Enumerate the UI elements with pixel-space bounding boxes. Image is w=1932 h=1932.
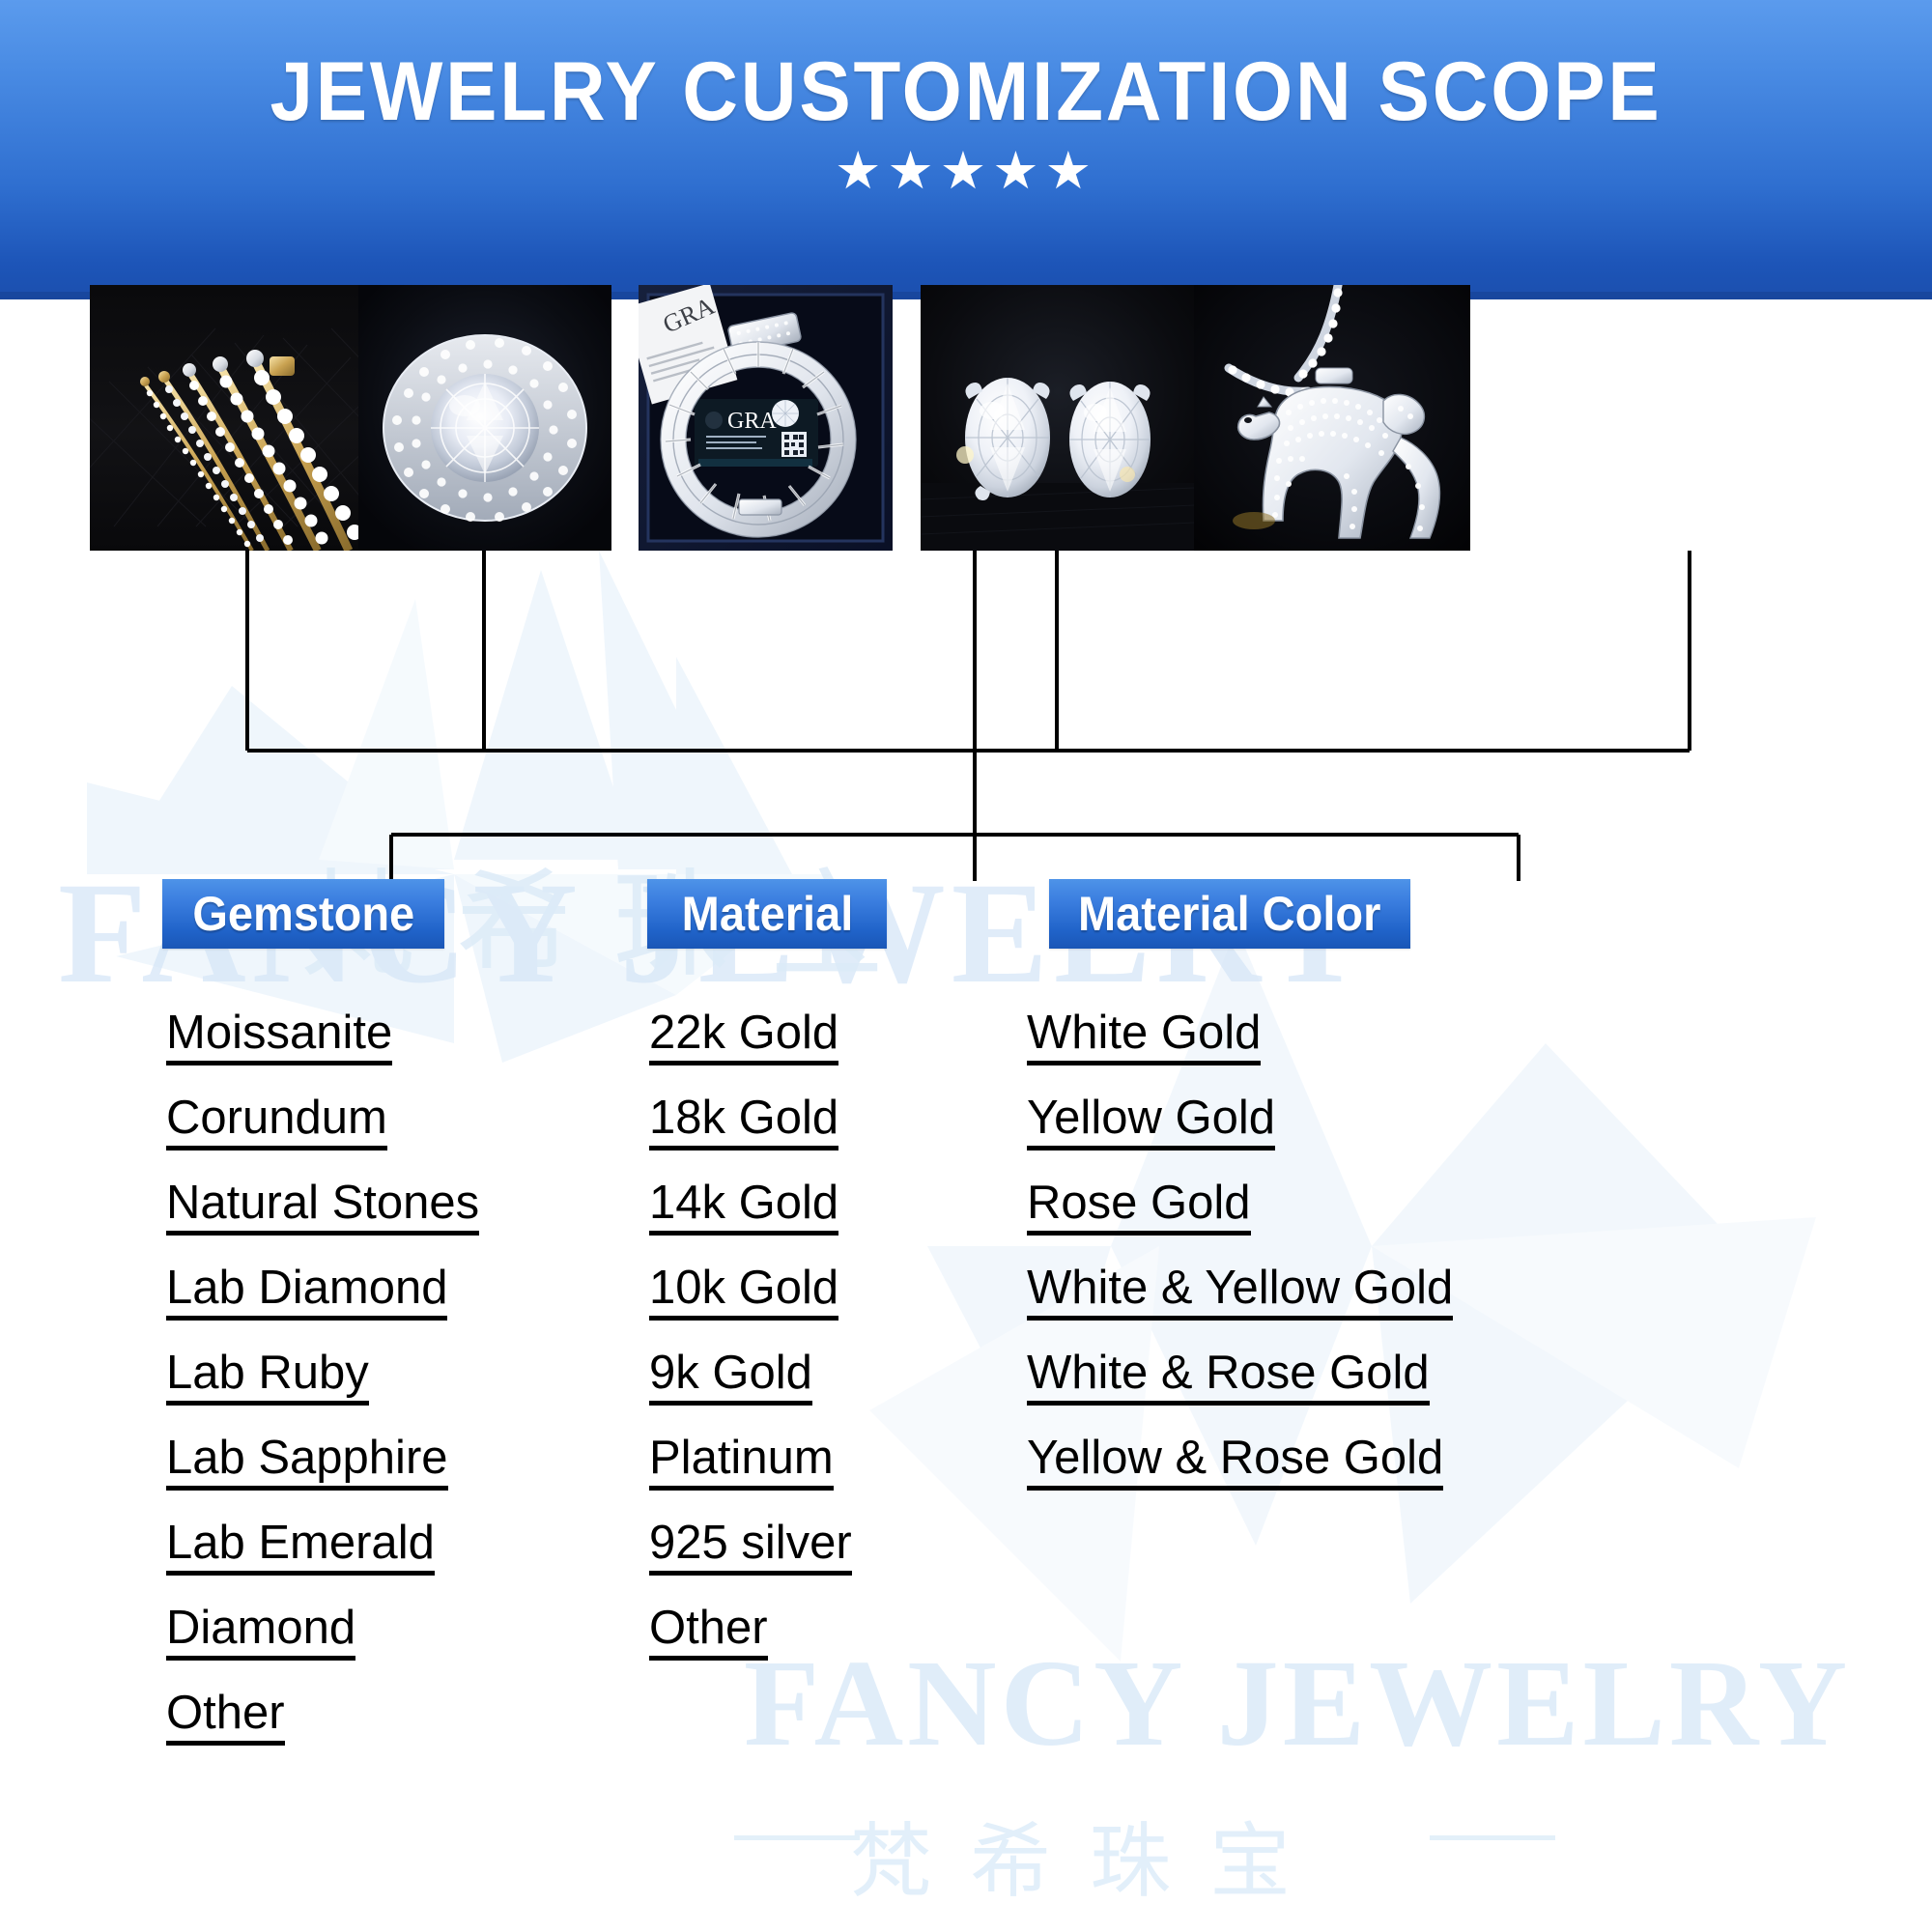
connector-lines [0,541,1932,889]
option-item[interactable]: Yellow Gold [1027,1094,1453,1151]
option-label: Diamond [166,1605,355,1661]
gallery-image-cuban-link-chain[interactable]: GRA GRA [639,285,893,551]
option-label: 10k Gold [649,1264,838,1321]
option-item[interactable]: 18k Gold [649,1094,852,1151]
watermark-rule-left [734,1835,860,1840]
svg-text:GRA: GRA [727,409,777,434]
option-list-gemstone: Moissanite Corundum Natural Stones Lab D… [166,1009,479,1775]
option-label: Corundum [166,1094,387,1151]
option-item[interactable]: 22k Gold [649,1009,852,1065]
option-item[interactable]: Natural Stones [166,1179,479,1236]
option-label: 22k Gold [649,1009,838,1065]
option-item[interactable]: Lab Ruby [166,1350,479,1406]
option-label: White & Yellow Gold [1027,1264,1453,1321]
category-header-gemstone[interactable]: Gemstone [162,879,444,949]
option-label: Moissanite [166,1009,392,1065]
category-label-gemstone: Gemstone [192,890,414,938]
option-item[interactable]: Lab Sapphire [166,1435,479,1491]
option-item[interactable]: White & Rose Gold [1027,1350,1453,1406]
option-label: Lab Sapphire [166,1435,448,1491]
option-item[interactable]: Other [166,1690,479,1746]
option-item[interactable]: Moissanite [166,1009,479,1065]
gallery-image-pave-ring[interactable] [358,285,611,551]
option-label: 9k Gold [649,1350,812,1406]
option-label: Lab Diamond [166,1264,447,1321]
watermark-brand-chinese-bottom: 梵希珠宝 [850,1797,1329,1914]
watermark-rule-right [1430,1835,1555,1840]
option-item[interactable]: White & Yellow Gold [1027,1264,1453,1321]
option-label: Lab Emerald [166,1520,435,1576]
option-item[interactable]: Rose Gold [1027,1179,1453,1236]
option-label: Yellow & Rose Gold [1027,1435,1443,1491]
option-label: Lab Ruby [166,1350,369,1406]
option-label: 925 silver [649,1520,852,1576]
star-rating: ★★★★★ [0,145,1932,197]
option-item[interactable]: Lab Diamond [166,1264,479,1321]
option-list-material: 22k Gold 18k Gold 14k Gold 10k Gold 9k G… [649,1009,852,1690]
category-label-material-color: Material Color [1078,890,1380,938]
option-label: Rose Gold [1027,1179,1251,1236]
option-label: Other [649,1605,768,1661]
page-title: JEWELRY CUSTOMIZATION SCOPE [68,50,1864,133]
option-item[interactable]: 925 silver [649,1520,852,1576]
option-label: Other [166,1690,285,1746]
option-item[interactable]: Diamond [166,1605,479,1661]
option-item[interactable]: 9k Gold [649,1350,852,1406]
option-item[interactable]: Corundum [166,1094,479,1151]
option-item[interactable]: 14k Gold [649,1179,852,1236]
header-banner: JEWELRY CUSTOMIZATION SCOPE ★★★★★ [0,0,1932,299]
option-label: Yellow Gold [1027,1094,1275,1151]
category-header-material-color[interactable]: Material Color [1049,879,1410,949]
watermark-brand-bottom: FANCY JEWELRY [744,1633,1932,1775]
gallery-image-oval-stud-earrings[interactable] [921,285,1195,551]
option-item[interactable]: Platinum [649,1435,852,1491]
option-list-material-color: White Gold Yellow Gold Rose Gold White &… [1027,1009,1453,1520]
option-label: White Gold [1027,1009,1261,1065]
option-label: White & Rose Gold [1027,1350,1430,1406]
star-rating-glyphs: ★★★★★ [835,145,1097,197]
option-label: 18k Gold [649,1094,838,1151]
option-item[interactable]: Other [649,1605,852,1661]
option-label: 14k Gold [649,1179,838,1236]
option-label: Natural Stones [166,1179,479,1236]
option-item[interactable]: Yellow & Rose Gold [1027,1435,1453,1491]
category-label-material: Material [681,890,853,938]
option-item[interactable]: 10k Gold [649,1264,852,1321]
option-item[interactable]: White Gold [1027,1009,1453,1065]
option-label: Platinum [649,1435,834,1491]
gallery-image-panther-pendant[interactable] [1194,285,1470,551]
option-item[interactable]: Lab Emerald [166,1520,479,1576]
category-header-material[interactable]: Material [647,879,887,949]
